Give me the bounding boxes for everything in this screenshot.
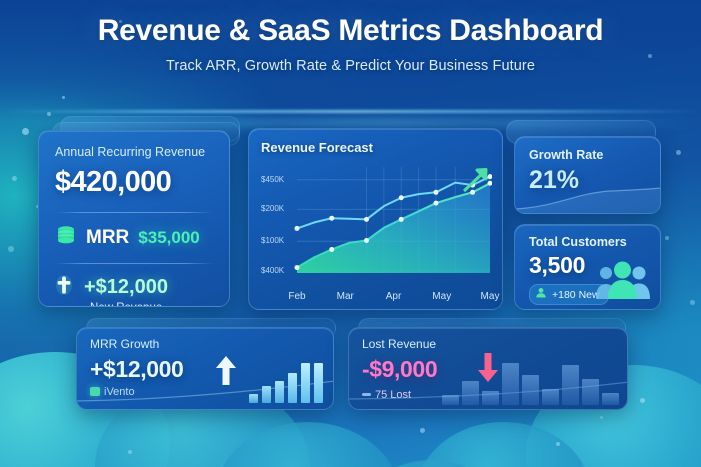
mrr-growth-card[interactable]: MRR Growth +$12,000 iVento [76,327,334,410]
lost-revenue-card[interactable]: Lost Revenue -$9,000 75 Lost [348,327,628,410]
mrr-growth-label: MRR Growth [90,337,320,351]
bar [288,373,297,403]
bokeh-particle [600,416,603,419]
people-group-icon [594,258,652,305]
chart-area-series [297,183,490,273]
bar-chart-icon [442,355,619,405]
chart-marker [329,247,334,252]
bar [562,365,579,405]
chart-x-axis: FebMarAprMayMay [261,284,490,300]
chart-marker [433,190,438,195]
divider [55,212,213,213]
chart-y-tick-label: $400K [261,266,284,275]
chart-marker [399,217,404,222]
chart-marker [470,190,475,195]
header-divider-glow [0,110,701,113]
chart-x-tick-label: May [470,291,503,302]
new-revenue-value: +$12,000 [84,276,168,299]
plus-sparkle-icon [55,274,73,301]
chart-x-tick-label: May [422,291,462,302]
chart-y-tick-label: $200K [261,204,284,213]
bokeh-particle [690,300,695,305]
arrow-up-icon [215,356,237,391]
bar-chart-icon [249,359,323,403]
chart-y-tick-label: $450K [261,175,284,184]
revenue-forecast-chart-card[interactable]: Revenue Forecast [248,128,503,310]
bokeh-particle [420,428,425,433]
bar [522,375,539,405]
chart-marker [295,265,300,270]
chart-marker [364,217,369,222]
growth-rate-card[interactable]: Growth Rate 21% [514,136,661,214]
bokeh-particle [128,450,132,454]
bokeh-particle [47,112,51,116]
growth-rate-label: Growth Rate [529,148,646,162]
bar [314,363,323,403]
bar [301,363,310,403]
divider [55,263,213,264]
bar [542,389,559,405]
database-icon [55,224,77,251]
bar [249,394,258,403]
bar [602,393,619,405]
chart-marker [399,195,404,200]
bar [482,391,499,405]
bar [582,379,599,405]
bokeh-particle [556,442,560,446]
forecast-line-chart [261,161,492,283]
new-revenue-label: New Revenue [90,302,213,307]
bokeh-particle [22,128,29,135]
mrr-row: MRR $35,000 [55,224,213,251]
bokeh-particle [676,150,681,155]
annual-recurring-revenue-card[interactable]: Annual Recurring Revenue $420,000 MRR $3… [38,130,230,307]
total-customers-card[interactable]: Total Customers 3,500 +180 New [514,224,661,310]
user-add-icon [535,287,547,302]
bokeh-particle [640,398,645,403]
new-customers-badge-text: +180 New [552,289,600,301]
chart-marker [295,226,300,231]
new-revenue-row: +$12,000 [55,274,213,301]
total-customers-label: Total Customers [529,235,646,249]
chart-marker [433,201,438,206]
bokeh-particle [62,96,65,99]
sparkline-wave [515,183,661,213]
chart-x-tick-label: Apr [374,291,414,302]
chart-marker [364,238,369,243]
bar [462,381,479,405]
chart-plot-area: $450K$200K$100K$400K [261,161,492,283]
bar [442,395,459,405]
lost-revenue-label: Lost Revenue [362,337,614,351]
bar [262,386,271,403]
arr-label: Annual Recurring Revenue [55,145,213,159]
bar [275,381,284,403]
bokeh-particle [8,246,14,252]
mrr-value: $35,000 [138,228,199,248]
page-title: Revenue & SaaS Metrics Dashboard [0,14,701,48]
chart-y-tick-label: $100K [261,236,284,245]
arr-value: $420,000 [55,166,213,199]
chart-marker [329,216,334,221]
chart-x-tick-label: Feb [277,291,317,302]
chart-x-tick-label: Mar [325,291,365,302]
chart-title: Revenue Forecast [261,140,490,155]
bar [502,363,519,405]
page-subtitle: Track ARR, Growth Rate & Predict Your Bu… [0,58,701,74]
mrr-label: MRR [86,227,129,249]
bokeh-particle [12,176,17,181]
bokeh-particle [665,236,669,240]
dashboard-header: Revenue & SaaS Metrics Dashboard Track A… [0,14,701,74]
